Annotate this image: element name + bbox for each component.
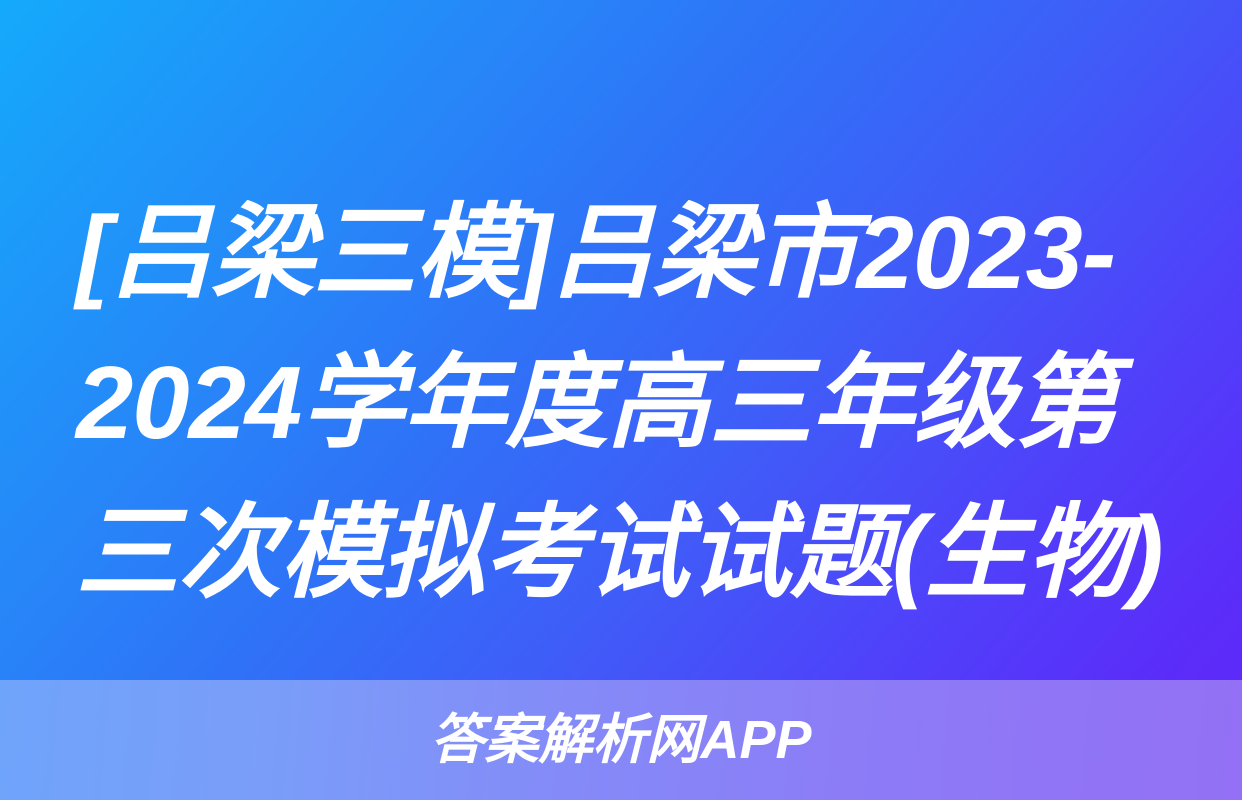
- footer-brand-band: 答案解析网APP: [0, 680, 1242, 800]
- title-line-1: [吕梁三模]吕梁市2023-: [76, 178, 1180, 328]
- footer-brand-label: 答案解析网APP: [430, 713, 811, 767]
- title-line-2: 2024学年度高三年级第: [76, 328, 1180, 478]
- title-line-3: 三次模拟考试试题(生物): [76, 478, 1180, 628]
- banner-title: [吕梁三模]吕梁市2023- 2024学年度高三年级第 三次模拟考试试题(生物): [76, 178, 1180, 628]
- exam-paper-banner: [吕梁三模]吕梁市2023- 2024学年度高三年级第 三次模拟考试试题(生物)…: [0, 0, 1242, 800]
